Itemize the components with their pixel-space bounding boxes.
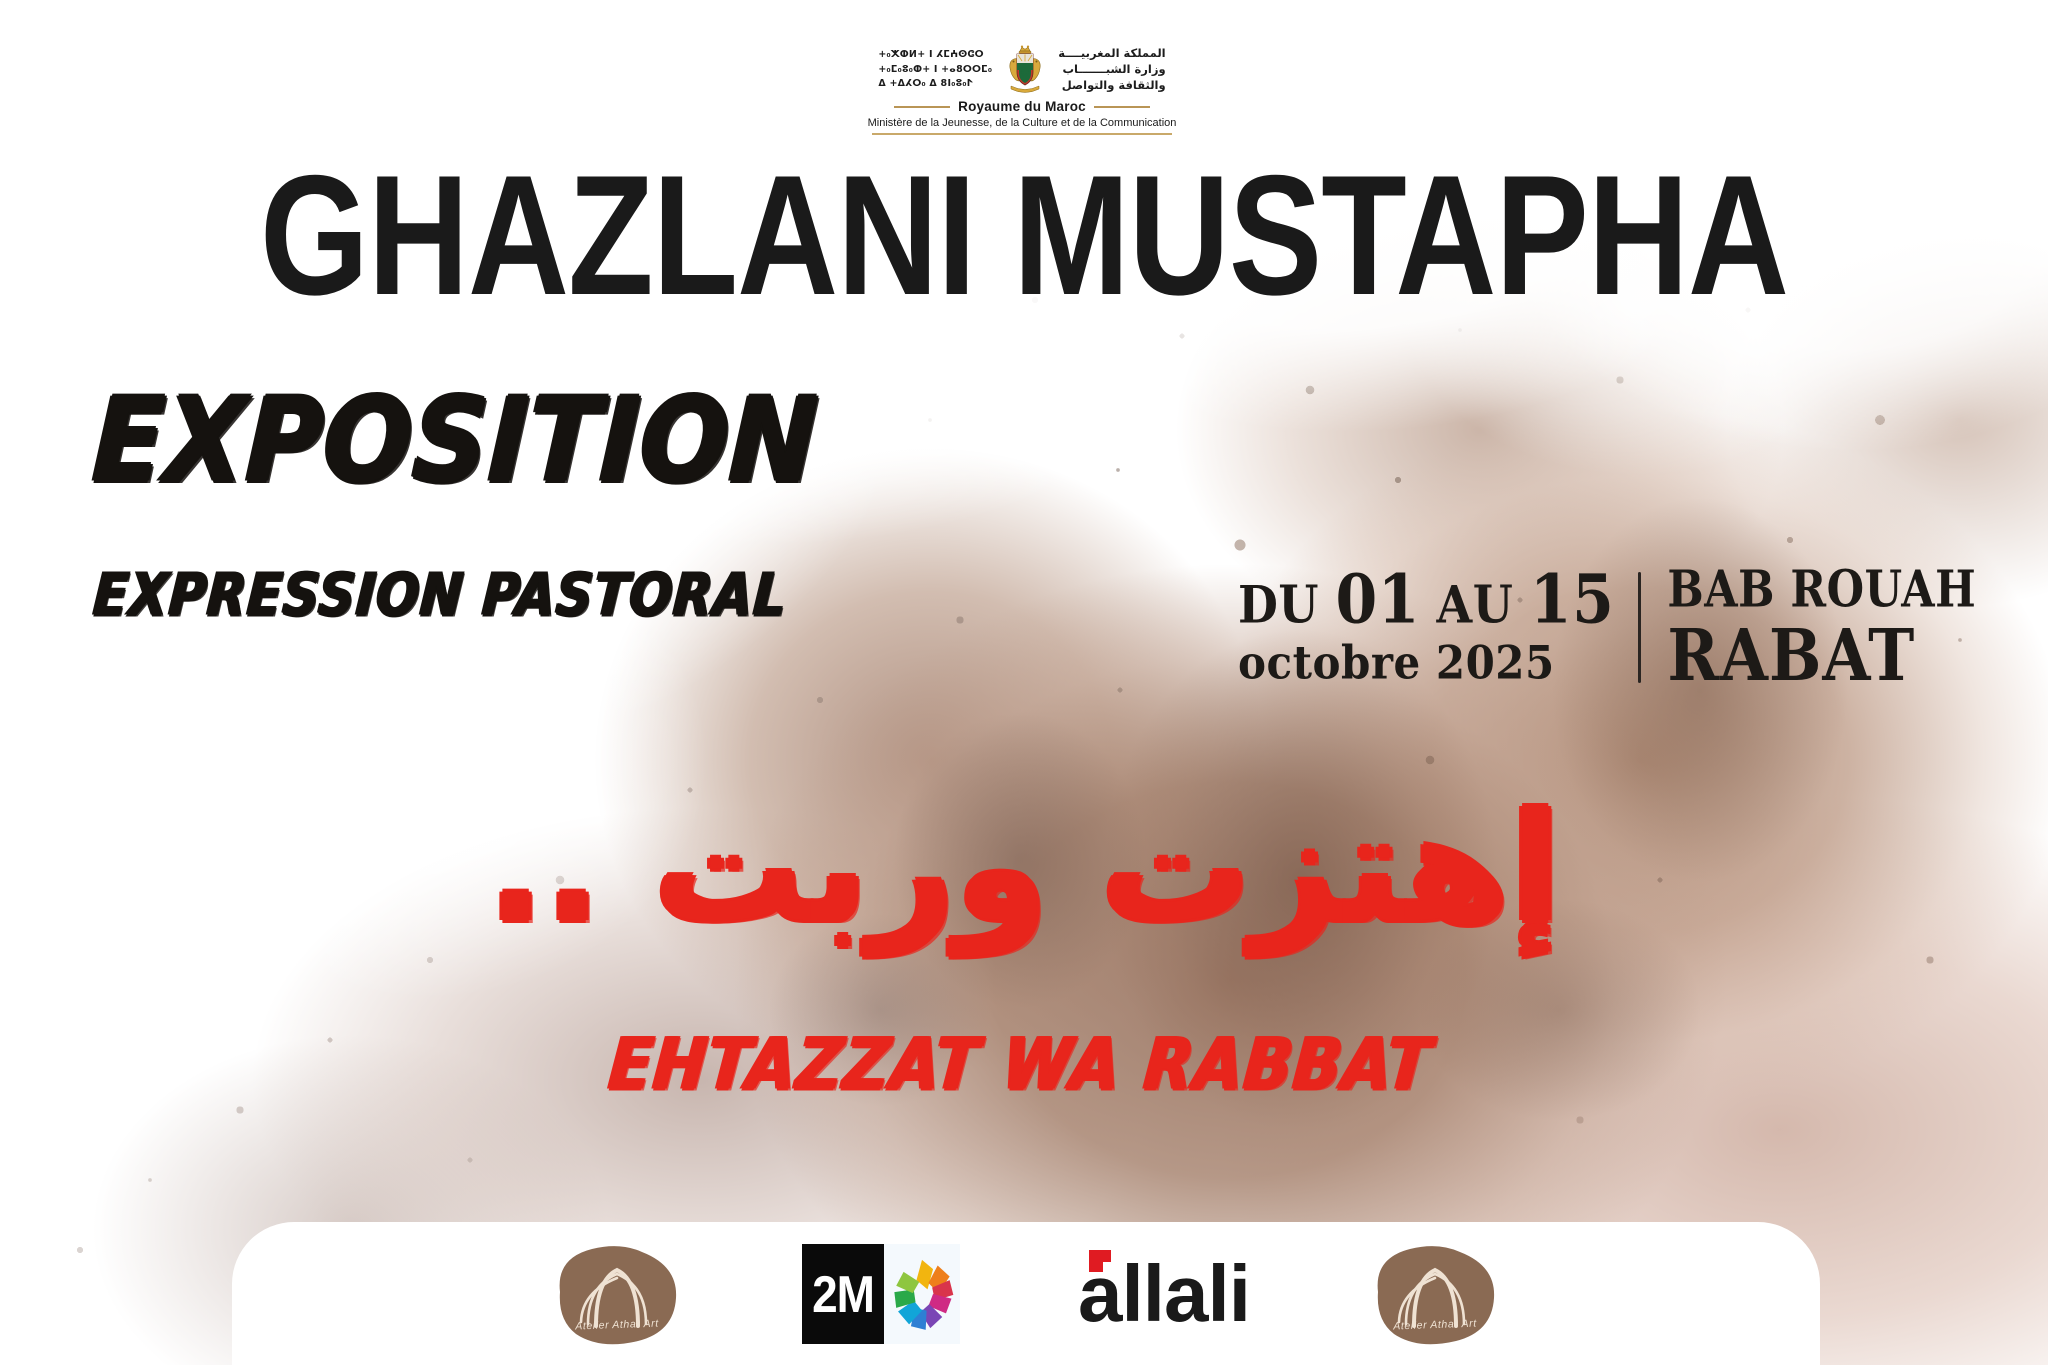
2m-star-box [884, 1244, 960, 1344]
venue-name: BAB ROUAH [1667, 564, 1976, 617]
date-start: 01 [1336, 561, 1421, 639]
venue-city: RABAT [1667, 619, 1976, 692]
ministry-arabic-line-2: وزارة الشبـــــــاب [1058, 62, 1165, 78]
ministry-label: Ministère de la Jeunesse, de la Culture … [868, 117, 1177, 129]
sponsor-panel: Atelier Athar Art 2M [232, 1222, 1820, 1365]
ministry-arabic-text: المملكة المغربيــــة وزارة الشبـــــــاب… [1058, 46, 1165, 94]
sponsor-logo-atelier-athar-art-right[interactable]: Atelier Athar Art [1368, 1240, 1502, 1348]
2m-pinwheel-star-icon [887, 1252, 957, 1336]
ministry-bottom-rule [872, 133, 1172, 135]
date-end: 15 [1530, 561, 1615, 639]
sponsor-logo-allali[interactable]: allali [1078, 1254, 1250, 1334]
rule-left [894, 106, 950, 108]
kingdom-label: Royaume du Maroc [958, 99, 1086, 114]
page-title: GHAZLANI MUSTAPHA [0, 150, 2048, 321]
sponsor-logo-atelier-athar-art-left[interactable]: Atelier Athar Art [550, 1240, 684, 1348]
event-info-block: DU 01 AU 15 octobre 2025 BAB ROUAH RABAT [1238, 568, 1976, 687]
sponsor-logo-2m[interactable]: 2M [802, 1244, 960, 1344]
exhibition-poster: +₀ⵅⵀⵍ⵩+ I ⵃⵎⵄⵙⵛⵔ +₀ⵎ₀ⵓ₀ⵀ+ I +ⴰ8ⵔⵔⵎ₀ ⵠ +ⵠ… [0, 0, 2048, 1365]
exposition-subtitle: EXPRESSION PASTORAL [92, 565, 790, 624]
2m-black-box: 2M [802, 1244, 884, 1344]
ministry-arabic-line-3: والثقافة والتواصل [1058, 78, 1165, 94]
artwork-title-arabic: إهتزت وربت .. [0, 776, 2048, 964]
event-venue: BAB ROUAH RABAT [1641, 568, 1976, 687]
rule-right [1094, 106, 1150, 108]
ministry-arabic-line-1: المملكة المغربيــــة [1058, 46, 1165, 62]
ministry-kingdom-row: Royaume du Maroc [894, 99, 1150, 114]
ministry-logo-top-row: +₀ⵅⵀⵍ⵩+ I ⵃⵎⵄⵙⵛⵔ +₀ⵎ₀ⵓ₀ⵀ+ I +ⴰ8ⵔⵔⵎ₀ ⵠ +ⵠ… [862, 44, 1182, 96]
event-month-year: octobre 2025 [1238, 636, 1614, 689]
event-date-range: DU 01 AU 15 [1238, 564, 1614, 637]
artwork-title-transliteration: EHTAZZAT WA RABBAT [0, 1028, 2048, 1100]
2m-wordmark: 2M [812, 1263, 874, 1323]
allali-notch-icon [1103, 1262, 1114, 1276]
date-prefix: DU [1238, 574, 1319, 634]
date-conjunction: AU [1437, 574, 1514, 634]
ministry-tifinagh-text: +₀ⵅⵀⵍ⵩+ I ⵃⵎⵄⵙⵛⵔ +₀ⵎ₀ⵓ₀ⵀ+ I +ⴰ8ⵔⵔⵎ₀ ⵠ +ⵠ… [878, 48, 992, 91]
moroccan-coat-of-arms-icon [1002, 44, 1048, 96]
exposition-heading: EXPOSITION [91, 382, 821, 498]
event-dates: DU 01 AU 15 octobre 2025 [1238, 568, 1638, 687]
